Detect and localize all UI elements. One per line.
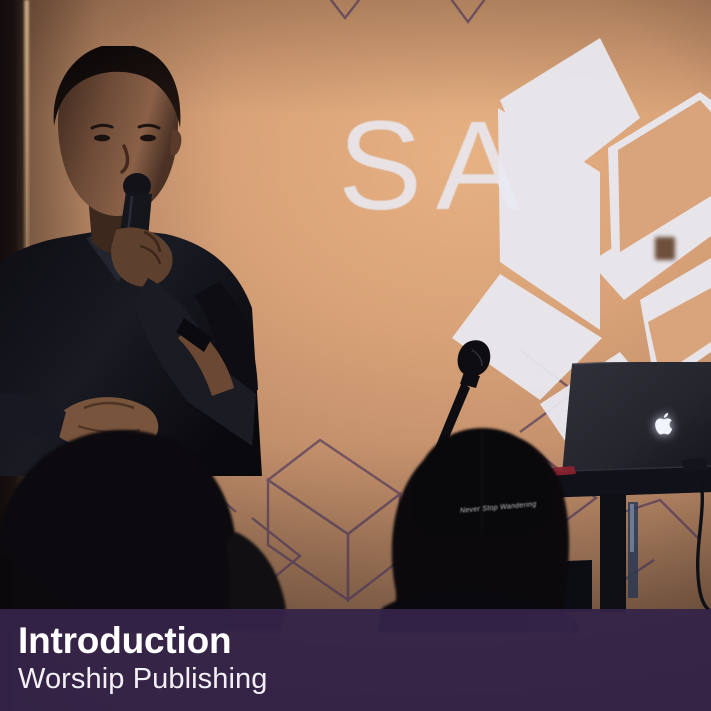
caption-title: Introduction <box>18 621 711 661</box>
caption-subtitle: Worship Publishing <box>18 663 711 695</box>
caption-bar: Introduction Worship Publishing <box>0 609 711 711</box>
video-thumbnail: SA <box>0 0 711 711</box>
wall-mounted-object <box>655 237 675 260</box>
audience-member-left <box>0 382 310 632</box>
backdrop-wall-text: SA <box>338 103 534 229</box>
apple-logo-icon <box>654 411 676 437</box>
audience-member-with-cap <box>378 402 578 632</box>
scene-photo: SA <box>0 0 711 711</box>
